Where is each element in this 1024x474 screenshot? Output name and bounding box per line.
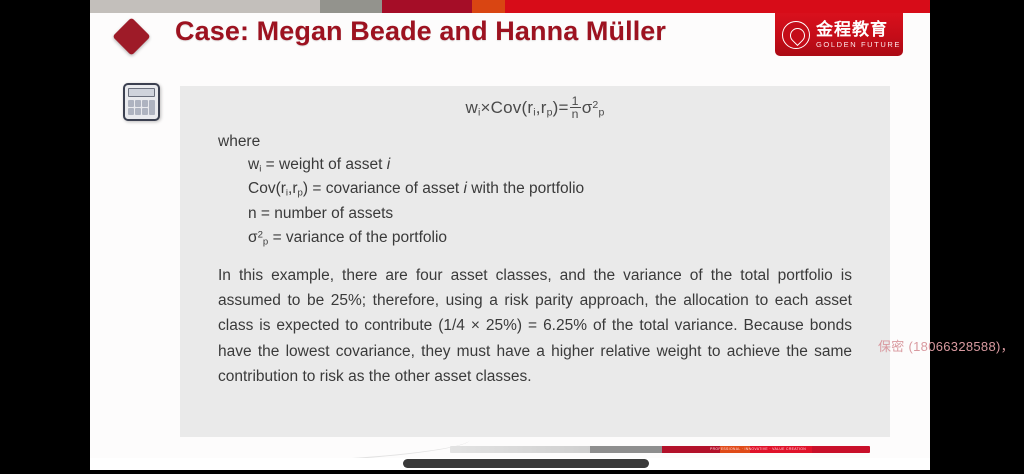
presentation-slide: Case: Megan Beade and Hanna Müller 金程教育 … xyxy=(90,0,930,468)
slide-top-ribbon xyxy=(90,0,930,13)
def-symbol: Cov(r xyxy=(248,180,286,197)
calculator-key xyxy=(128,100,134,107)
calculator-key xyxy=(135,108,141,115)
video-player-viewport: Case: Megan Beade and Hanna Müller 金程教育 … xyxy=(0,0,1024,474)
formula-frac-numerator: 1 xyxy=(570,95,581,108)
def-text: = variance of the portfolio xyxy=(268,229,447,246)
def-symbol: w xyxy=(248,156,259,173)
calculator-key xyxy=(149,100,155,115)
definition-line-n: n = number of assets xyxy=(248,202,890,226)
def-text: = covariance of asset xyxy=(308,180,464,197)
formula-equals: = xyxy=(559,98,569,117)
footer-color-bar xyxy=(450,446,870,453)
letterbox-left xyxy=(0,0,90,474)
ribbon-segment-gray xyxy=(320,0,382,13)
ribbon-segment-light-gray xyxy=(90,0,320,13)
formula-w: w xyxy=(465,98,477,117)
definition-line-w: wi = weight of asset i xyxy=(248,153,890,177)
ribbon-segment-red xyxy=(505,0,930,13)
calculator-key xyxy=(142,100,148,107)
scrollbar-thumb[interactable] xyxy=(403,459,649,468)
formula-sigma-sub: p xyxy=(598,107,604,119)
formula-fraction: 1n xyxy=(570,95,581,121)
formula-expression: wi×Cov(ri,rp)=1nσ2p xyxy=(180,86,890,121)
definition-line-sigma: σ2p = variance of the portfolio xyxy=(248,226,890,250)
ribbon-segment-dark-red xyxy=(382,0,472,13)
body-paragraph: In this example, there are four asset cl… xyxy=(218,263,852,389)
footer-segment-crimson xyxy=(812,446,870,453)
confidential-watermark: 保密 (18066328588)， xyxy=(878,336,1014,355)
formula-cov: Cov( xyxy=(491,98,528,117)
brand-name-en: GOLDEN FUTURE xyxy=(816,41,901,49)
brand-logo: 金程教育 GOLDEN FUTURE xyxy=(775,13,903,56)
letterbox-right xyxy=(930,0,1024,474)
page-title: Case: Megan Beade and Hanna Müller xyxy=(175,16,666,47)
calculator-key xyxy=(128,108,134,115)
content-panel: wi×Cov(ri,rp)=1nσ2p where wi = weight of… xyxy=(180,86,890,437)
definition-line-cov: Cov(ri,rp) = covariance of asset i with … xyxy=(248,177,890,201)
def-symbol: σ xyxy=(248,229,258,246)
circular-seal-icon xyxy=(782,21,810,49)
formula-times: × xyxy=(481,98,491,117)
diamond-icon xyxy=(112,17,150,55)
where-label: where xyxy=(218,133,890,151)
def-symbol: n xyxy=(248,205,257,222)
formula-frac-denominator: n xyxy=(570,108,581,120)
def-italic: i xyxy=(387,156,390,173)
def-text: = number of assets xyxy=(257,205,394,222)
brand-name-cn: 金程教育 xyxy=(816,21,901,38)
ribbon-segment-orange xyxy=(472,0,505,13)
slide-title-row: Case: Megan Beade and Hanna Müller 金程教育 … xyxy=(90,13,930,63)
def-text: = weight of asset xyxy=(261,156,386,173)
calculator-icon xyxy=(123,83,160,121)
formula-sigma: σ xyxy=(582,98,593,117)
calculator-key xyxy=(142,108,148,115)
footer-segment-gray xyxy=(590,446,662,453)
footer-tagline: PROFESSIONAL · INNOVATIVE · VALUE CREATI… xyxy=(710,446,806,453)
calculator-key xyxy=(135,100,141,107)
calculator-keys xyxy=(128,100,155,115)
def-tail: with the portfolio xyxy=(467,180,584,197)
brand-logo-text: 金程教育 GOLDEN FUTURE xyxy=(816,21,901,49)
footer-segment-light xyxy=(450,446,590,453)
calculator-screen xyxy=(128,88,155,97)
